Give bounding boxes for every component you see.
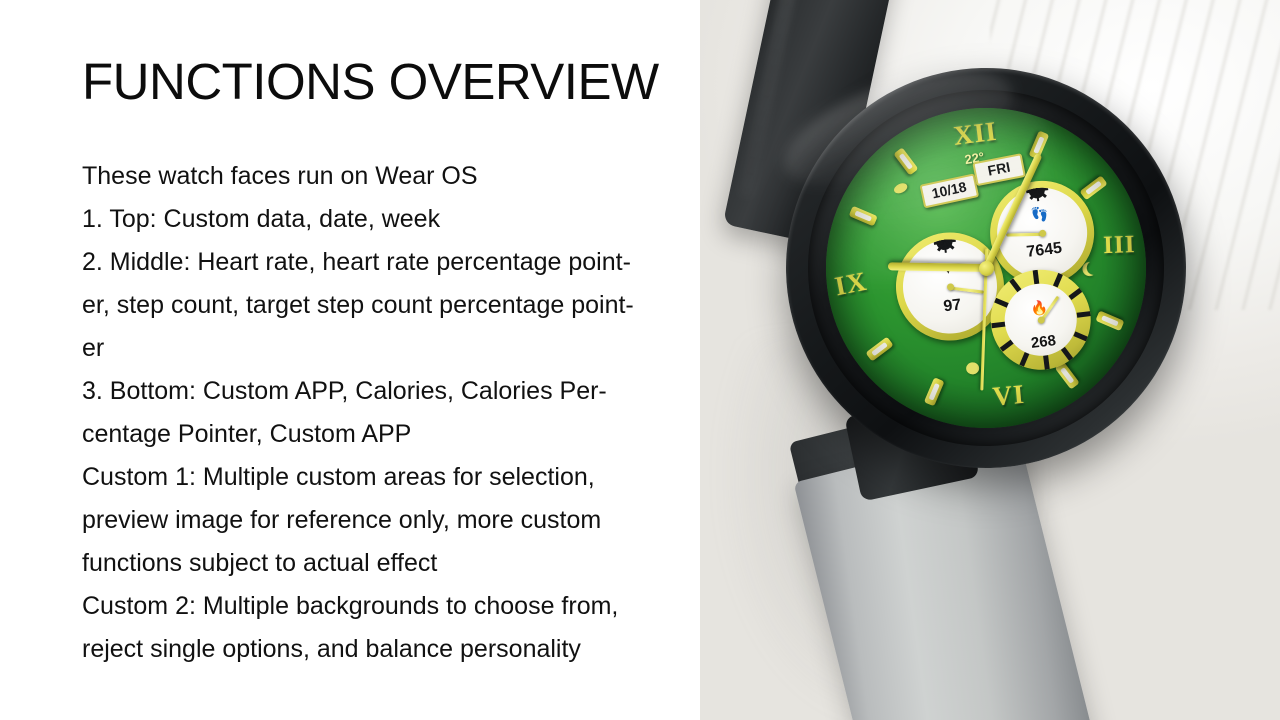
body-line: er, step count, target step count percen… xyxy=(82,284,797,327)
body-line: These watch faces run on Wear OS xyxy=(82,155,797,198)
smartwatch: XII III VI IX 22° 10/18 FRI ♥ 97 xyxy=(763,45,1209,491)
body-line: Custom 1: Multiple custom areas for sele… xyxy=(82,456,797,499)
body-line: 1. Top: Custom data, date, week xyxy=(82,198,797,241)
page-title: FUNCTIONS OVERVIEW xyxy=(82,52,659,111)
body-line: er xyxy=(82,327,797,370)
body-text-list: These watch faces run on Wear OS 1. Top:… xyxy=(82,155,797,671)
body-line: Custom 2: Multiple backgrounds to choose… xyxy=(82,585,797,628)
slide-root: FUNCTIONS OVERVIEW These watch faces run… xyxy=(0,0,1280,720)
body-line: preview image for reference only, more c… xyxy=(82,499,797,542)
body-line: functions subject to actual effect xyxy=(82,542,797,585)
body-line: centage Pointer, Custom APP xyxy=(82,413,797,456)
body-line: 2. Middle: Heart rate, heart rate percen… xyxy=(82,241,797,284)
body-line: 3. Bottom: Custom APP, Calories, Calorie… xyxy=(82,370,797,413)
text-pane: FUNCTIONS OVERVIEW These watch faces run… xyxy=(0,0,700,720)
watch-product-photo: XII III VI IX 22° 10/18 FRI ♥ 97 xyxy=(700,0,1280,720)
body-line: reject single options, and balance perso… xyxy=(82,628,797,671)
